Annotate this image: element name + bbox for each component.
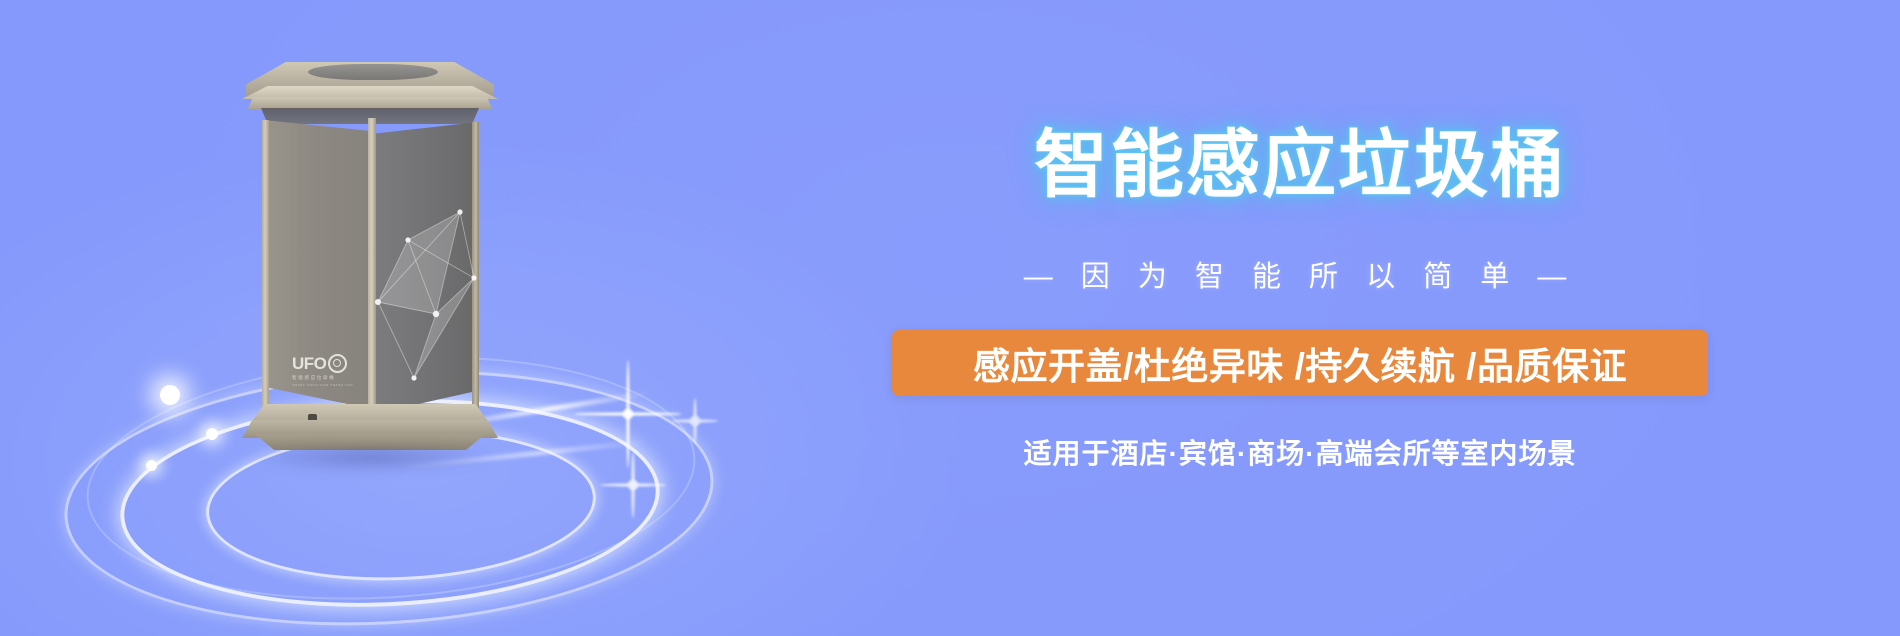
subheadline: — 因 为 智 能 所 以 简 单 — xyxy=(880,253,1720,295)
copy-block: 智能感应垃圾桶 — 因 为 智 能 所 以 简 单 — 感应开盖/杜绝异味 /持… xyxy=(880,0,1880,636)
headline: 智能感应垃圾桶 xyxy=(880,128,1720,202)
sparkle-dot-1 xyxy=(160,385,180,405)
bin-left-rail xyxy=(262,120,269,412)
bin-ground-shadow xyxy=(246,446,496,474)
trash-bin-product: UFO 智能感应垃圾桶 SMART INDUCTION TRASH CAN xyxy=(240,62,500,440)
sparkle-dot-3 xyxy=(146,460,157,471)
bin-lid-opening xyxy=(308,64,438,80)
bin-lid-band-lower xyxy=(240,97,500,109)
network-graphic xyxy=(374,182,478,392)
star-sparkle-2 xyxy=(600,452,666,518)
sparkle-dot-2 xyxy=(206,428,218,440)
brand-wordmark: UFO xyxy=(292,355,326,372)
usage-scenarios-text: 适用于酒店·宾馆·商场·高端会所等室内场景 xyxy=(880,432,1720,472)
star-sparkle-3 xyxy=(672,398,718,444)
feature-badge-text: 感应开盖/杜绝异味 /持久续航 /品质保证 xyxy=(973,336,1627,390)
product-brand-mark: UFO 智能感应垃圾桶 SMART INDUCTION TRASH CAN xyxy=(292,354,356,387)
feature-badge: 感应开盖/杜绝异味 /持久续航 /品质保证 xyxy=(892,330,1708,396)
brand-ring-icon xyxy=(328,354,347,373)
promo-banner: UFO 智能感应垃圾桶 SMART INDUCTION TRASH CAN 智能… xyxy=(0,0,1900,636)
brand-subtitle-en: SMART INDUCTION TRASH CAN xyxy=(292,384,356,387)
brand-subtitle-cn: 智能感应垃圾桶 xyxy=(292,376,356,381)
product-scene: UFO 智能感应垃圾桶 SMART INDUCTION TRASH CAN xyxy=(0,0,780,636)
